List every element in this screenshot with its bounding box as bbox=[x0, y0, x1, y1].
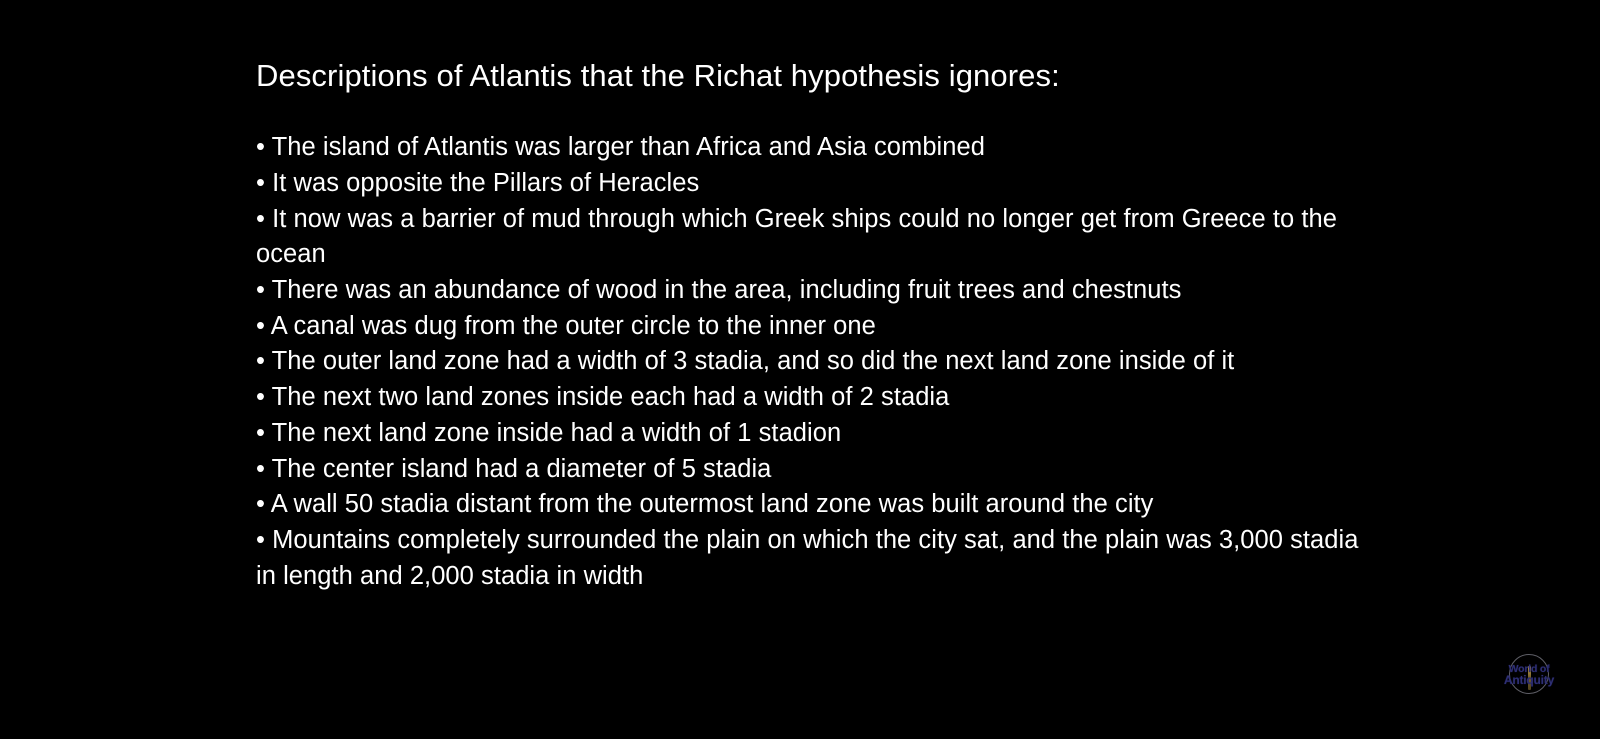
list-item-text: A wall 50 stadia distant from the outerm… bbox=[271, 490, 1154, 518]
bullet-dot-icon: • bbox=[256, 312, 271, 340]
bullet-dot-icon: • bbox=[256, 419, 272, 447]
page-title: Descriptions of Atlantis that the Richat… bbox=[256, 0, 1366, 94]
list-item-text: It now was a barrier of mud through whic… bbox=[256, 205, 1337, 269]
list-item-text: A canal was dug from the outer circle to… bbox=[271, 312, 876, 340]
bullet-list: • The island of Atlantis was larger than… bbox=[256, 130, 1366, 594]
list-item-text: The next land zone inside had a width of… bbox=[272, 419, 842, 447]
bullet-dot-icon: • bbox=[256, 276, 272, 304]
list-item: • A canal was dug from the outer circle … bbox=[256, 309, 1366, 345]
list-item: • The outer land zone had a width of 3 s… bbox=[256, 344, 1366, 380]
bullet-dot-icon: • bbox=[256, 205, 272, 233]
bullet-dot-icon: • bbox=[256, 169, 272, 197]
presentation-slide: Descriptions of Atlantis that the Richat… bbox=[0, 0, 1600, 739]
list-item: • A wall 50 stadia distant from the oute… bbox=[256, 487, 1366, 523]
list-item: • It was opposite the Pillars of Heracle… bbox=[256, 166, 1366, 202]
bullet-dot-icon: • bbox=[256, 490, 271, 518]
list-item-text: The next two land zones inside each had … bbox=[272, 383, 950, 411]
bullet-dot-icon: • bbox=[256, 526, 272, 554]
list-item: • The island of Atlantis was larger than… bbox=[256, 130, 1366, 166]
bullet-dot-icon: • bbox=[256, 383, 272, 411]
list-item: • The next two land zones inside each ha… bbox=[256, 380, 1366, 416]
list-item-text: There was an abundance of wood in the ar… bbox=[272, 276, 1182, 304]
list-item-text: It was opposite the Pillars of Heracles bbox=[272, 169, 699, 197]
list-item-text: The center island had a diameter of 5 st… bbox=[272, 455, 772, 483]
list-item: • Mountains completely surrounded the pl… bbox=[256, 523, 1366, 594]
list-item-text: Mountains completely surrounded the plai… bbox=[256, 526, 1358, 590]
bullet-dot-icon: • bbox=[256, 133, 272, 161]
list-item: • The center island had a diameter of 5 … bbox=[256, 452, 1366, 488]
slide-content: Descriptions of Atlantis that the Richat… bbox=[256, 0, 1366, 594]
list-item-text: The island of Atlantis was larger than A… bbox=[272, 133, 985, 161]
channel-watermark-logo: World of Antiquity bbox=[1498, 652, 1560, 698]
bullet-dot-icon: • bbox=[256, 347, 272, 375]
list-item: • It now was a barrier of mud through wh… bbox=[256, 202, 1366, 273]
list-item-text: The outer land zone had a width of 3 sta… bbox=[272, 347, 1235, 375]
list-item: • There was an abundance of wood in the … bbox=[256, 273, 1366, 309]
list-item: • The next land zone inside had a width … bbox=[256, 416, 1366, 452]
watermark-line-2: Antiquity bbox=[1498, 674, 1560, 686]
bullet-dot-icon: • bbox=[256, 455, 272, 483]
